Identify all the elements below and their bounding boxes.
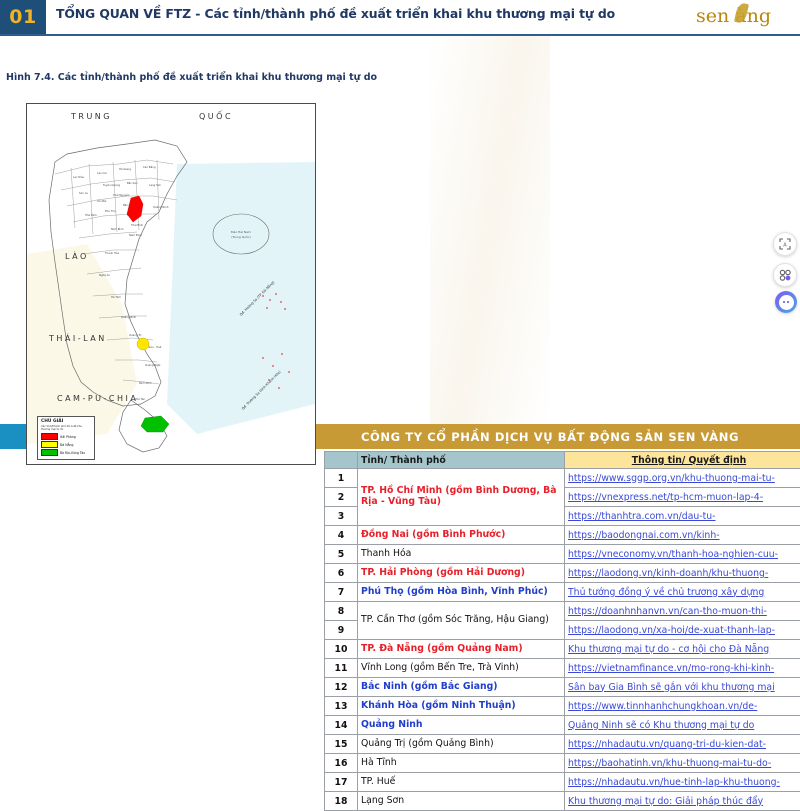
brand-logo: sen àng [696, 3, 792, 31]
province-cell: TP. Đà Nẵng (gồm Quảng Nam) [358, 640, 565, 659]
svg-text:Quảng Bình: Quảng Bình [121, 315, 137, 319]
table-row: 8TP. Cần Thơ (gồm Sóc Trăng, Hậu Giang)h… [325, 602, 800, 621]
assistant-avatar-icon[interactable] [775, 291, 797, 313]
scan-glyph: A [779, 238, 791, 250]
scan-text-icon[interactable]: A [773, 232, 797, 256]
extension-puzzle-icon[interactable] [773, 263, 797, 287]
info-link[interactable]: https://baodongnai.com.vn/kinh- [565, 526, 800, 545]
svg-text:Nghệ An: Nghệ An [99, 273, 110, 277]
avatar-face [779, 295, 794, 310]
row-index: 7 [325, 583, 358, 602]
legend-subtitle: Các tỉnh/thành phố đề xuất khu thương mạ… [41, 425, 92, 431]
map-label-quoc: QUỐC [199, 112, 233, 121]
province-cell: Đồng Nai (gồm Bình Phước) [358, 526, 565, 545]
table-row: 1TP. Hồ Chí Minh (gồm Bình Dương, Bà Rịa… [325, 469, 800, 488]
legend-label-hai-phong: Hải Phòng [60, 435, 76, 439]
info-link[interactable]: https://nhadautu.vn/quang-tri-du-kien-da… [565, 735, 800, 754]
svg-text:Hòa Bình: Hòa Bình [85, 213, 97, 217]
background-decoration [430, 34, 550, 424]
map-svg: Lai ChâuLào Cai Hà GiangCao Bằng Bắc Kạn… [27, 104, 315, 464]
svg-text:Phú Thọ: Phú Thọ [105, 209, 116, 213]
row-index: 12 [325, 678, 358, 697]
province-cell: Hà Tĩnh [358, 754, 565, 773]
footer-company-name: CÔNG TY CỔ PHẦN DỊCH VỤ BẤT ĐỘNG SẢN SEN… [300, 424, 800, 449]
row-index: 9 [325, 621, 358, 640]
svg-text:Tuyên Quang: Tuyên Quang [103, 183, 120, 187]
svg-text:Yên Bái: Yên Bái [97, 199, 107, 203]
province-cell: Thanh Hóa [358, 545, 565, 564]
map-label-lao: LÀO [65, 252, 89, 261]
figure-caption: Hình 7.4. Các tỉnh/thành phố đề xuất tri… [6, 72, 800, 83]
svg-text:Lai Châu: Lai Châu [73, 175, 85, 179]
table-row: 7Phú Thọ (gồm Hòa Bình, Vĩnh Phúc)Thủ tư… [325, 583, 800, 602]
province-cell: TP. Huế [358, 773, 565, 792]
province-cell: TP. Hồ Chí Minh (gồm Bình Dương, Bà Rịa … [358, 469, 565, 526]
column-header-info: Thông tin/ Quyết định [565, 452, 800, 469]
province-cell: Khánh Hòa (gồm Ninh Thuận) [358, 697, 565, 716]
svg-text:Bình Định: Bình Định [139, 381, 152, 385]
province-cell: TP. Hải Phòng (gồm Hải Dương) [358, 564, 565, 583]
info-link[interactable]: Khu thương mại tự do - cơ hội cho Đà Nẵn… [565, 640, 800, 659]
table-row: 12Bắc Ninh (gồm Bắc Giang)Sân bay Gia Bì… [325, 678, 800, 697]
row-index: 17 [325, 773, 358, 792]
section-number: 01 [9, 6, 36, 28]
info-link[interactable]: https://vnexpress.net/tp-hcm-muon-lap-4- [565, 488, 800, 507]
map-label-campuchia: CAM-PU-CHIA [57, 394, 138, 403]
svg-text:Lạng Sơn: Lạng Sơn [149, 183, 161, 187]
table-row: 4Đồng Nai (gồm Bình Phước)https://baodon… [325, 526, 800, 545]
table-row: 5Thanh Hóahttps://vneconomy.vn/thanh-hoa… [325, 545, 800, 564]
row-index: 14 [325, 716, 358, 735]
legend-swatch-ba-ria [41, 449, 58, 456]
svg-text:Thái Bình: Thái Bình [131, 223, 144, 227]
column-header-province: Tỉnh/ Thành phố [358, 452, 565, 469]
province-cell: TP. Cần Thơ (gồm Sóc Trăng, Hậu Giang) [358, 602, 565, 640]
vietnam-map: Lai ChâuLào Cai Hà GiangCao Bằng Bắc Kạn… [26, 103, 316, 465]
svg-text:Lào Cai: Lào Cai [97, 171, 107, 175]
table-row: 6TP. Hải Phòng (gồm Hải Dương)https://la… [325, 564, 800, 583]
table-row: 17TP. Huếhttps://nhadautu.vn/hue-tinh-la… [325, 773, 800, 792]
province-cell: Quảng Ninh [358, 716, 565, 735]
svg-text:Hà Tĩnh: Hà Tĩnh [111, 295, 121, 299]
info-link[interactable]: https://baohatinh.vn/khu-thuong-mai-tu-d… [565, 754, 800, 773]
ftz-provinces-table: Tỉnh/ Thành phố Thông tin/ Quyết định 1T… [324, 451, 800, 811]
table-row: 15Quảng Trị (gồm Quảng Bình)https://nhad… [325, 735, 800, 754]
svg-text:Sơn La: Sơn La [79, 191, 88, 195]
legend-item: Hải Phòng [41, 433, 92, 440]
legend-swatch-hai-phong [41, 433, 58, 440]
legend-item: Đà Nẵng [41, 441, 92, 448]
page-header: 01 TỔNG QUAN VỀ FTZ - Các tỉnh/thành phố… [0, 0, 800, 34]
svg-text:Nam Định: Nam Định [129, 233, 142, 237]
info-link[interactable]: Quảng Ninh sẽ có Khu thương mại tự do [565, 716, 800, 735]
svg-text:A: A [783, 243, 787, 249]
svg-text:Thanh Hóa: Thanh Hóa [105, 251, 119, 255]
row-index: 5 [325, 545, 358, 564]
info-link[interactable]: https://www.tinnhanhchungkhoan.vn/de- [565, 697, 800, 716]
table-row: 10TP. Đà Nẵng (gồm Quảng Nam)Khu thương … [325, 640, 800, 659]
svg-text:Quảng Ngãi: Quảng Ngãi [145, 363, 161, 367]
row-index: 10 [325, 640, 358, 659]
row-index: 11 [325, 659, 358, 678]
map-legend: CHÚ GIẢI Các tỉnh/thành phố đề xuất khu … [37, 416, 95, 460]
info-link[interactable]: Thủ tướng đồng ý về chủ trương xây dựng [565, 583, 800, 602]
puzzle-glyph [779, 269, 792, 282]
avatar-eye-right [787, 301, 789, 303]
legend-label-ba-ria: Bà Rịa-Vũng Tàu [60, 451, 85, 455]
section-number-badge: 01 [0, 0, 46, 34]
map-label-thailan: THÁI-LAN [49, 334, 107, 343]
column-header-index [325, 452, 358, 469]
info-link[interactable]: Sân bay Gia Bình sẽ gắn với khu thương m… [565, 678, 800, 697]
province-cell: Bắc Ninh (gồm Bắc Giang) [358, 678, 565, 697]
province-cell: Phú Thọ (gồm Hòa Bình, Vĩnh Phúc) [358, 583, 565, 602]
table-row: 13Khánh Hòa (gồm Ninh Thuận)https://www.… [325, 697, 800, 716]
legend-title: CHÚ GIẢI [41, 419, 92, 424]
info-link[interactable]: https://laodong.vn/xa-hoi/de-xuat-thanh-… [565, 621, 800, 640]
svg-text:Quảng Ninh: Quảng Ninh [153, 205, 169, 209]
row-index: 13 [325, 697, 358, 716]
province-cell: Lạng Sơn [358, 792, 565, 811]
row-index: 8 [325, 602, 358, 621]
map-label-trung: TRUNG [71, 112, 112, 121]
info-link[interactable]: https://doanhnhanvn.vn/can-tho-muon-thi- [565, 602, 800, 621]
info-link[interactable]: https://vneconomy.vn/thanh-hoa-nghien-cu… [565, 545, 800, 564]
legend-label-da-nang: Đà Nẵng [60, 443, 73, 447]
row-index: 16 [325, 754, 358, 773]
svg-text:Quảng Trị: Quảng Trị [129, 333, 142, 337]
info-link[interactable]: Khu thương mại tự do: Giải pháp thúc đẩy [565, 792, 800, 811]
table-row: 16Hà Tĩnhhttps://baohatinh.vn/khu-thuong… [325, 754, 800, 773]
table-body: 1TP. Hồ Chí Minh (gồm Bình Dương, Bà Rịa… [325, 469, 800, 811]
row-index: 3 [325, 507, 358, 526]
row-index: 2 [325, 488, 358, 507]
row-index: 15 [325, 735, 358, 754]
marker-da-nang [137, 338, 149, 350]
legend-item: Bà Rịa-Vũng Tàu [41, 449, 92, 456]
svg-text:Hà Giang: Hà Giang [119, 167, 131, 171]
table-row: 11Vĩnh Long (gồm Bến Tre, Trà Vinh)https… [325, 659, 800, 678]
legend-swatch-da-nang [41, 441, 58, 448]
avatar-eye-left [783, 301, 785, 303]
brand-logo-text: sen àng [696, 5, 771, 27]
east-sea-shape [167, 162, 315, 434]
province-cell: Vĩnh Long (gồm Bến Tre, Trà Vinh) [358, 659, 565, 678]
info-link[interactable]: https://laodong.vn/kinh-doanh/khu-thuong… [565, 564, 800, 583]
svg-text:Ninh Bình: Ninh Bình [111, 227, 124, 231]
info-link[interactable]: https://vietnamfinance.vn/mo-rong-khi-ki… [565, 659, 800, 678]
table-header-row: Tỉnh/ Thành phố Thông tin/ Quyết định [325, 452, 800, 469]
row-index: 4 [325, 526, 358, 545]
info-link[interactable]: https://thanhtra.com.vn/dau-tu- [565, 507, 800, 526]
row-index: 6 [325, 564, 358, 583]
hainan-label-1: Đảo Hải Nam [231, 230, 251, 234]
info-link[interactable]: https://www.sggp.org.vn/khu-thuong-mai-t… [565, 469, 800, 488]
info-link[interactable]: https://nhadautu.vn/hue-tinh-lap-khu-thu… [565, 773, 800, 792]
row-index: 1 [325, 469, 358, 488]
row-index: 18 [325, 792, 358, 811]
table-row: 14Quảng NinhQuảng Ninh sẽ có Khu thương … [325, 716, 800, 735]
province-cell: Quảng Trị (gồm Quảng Bình) [358, 735, 565, 754]
table-row: 18Lạng SơnKhu thương mại tự do: Giải phá… [325, 792, 800, 811]
page-title: TỔNG QUAN VỀ FTZ - Các tỉnh/thành phố đề… [56, 6, 615, 21]
svg-text:Thái Nguyên: Thái Nguyên [113, 193, 130, 197]
hainan-label-2: (Trung Quốc) [231, 235, 250, 239]
header-divider [0, 34, 800, 36]
